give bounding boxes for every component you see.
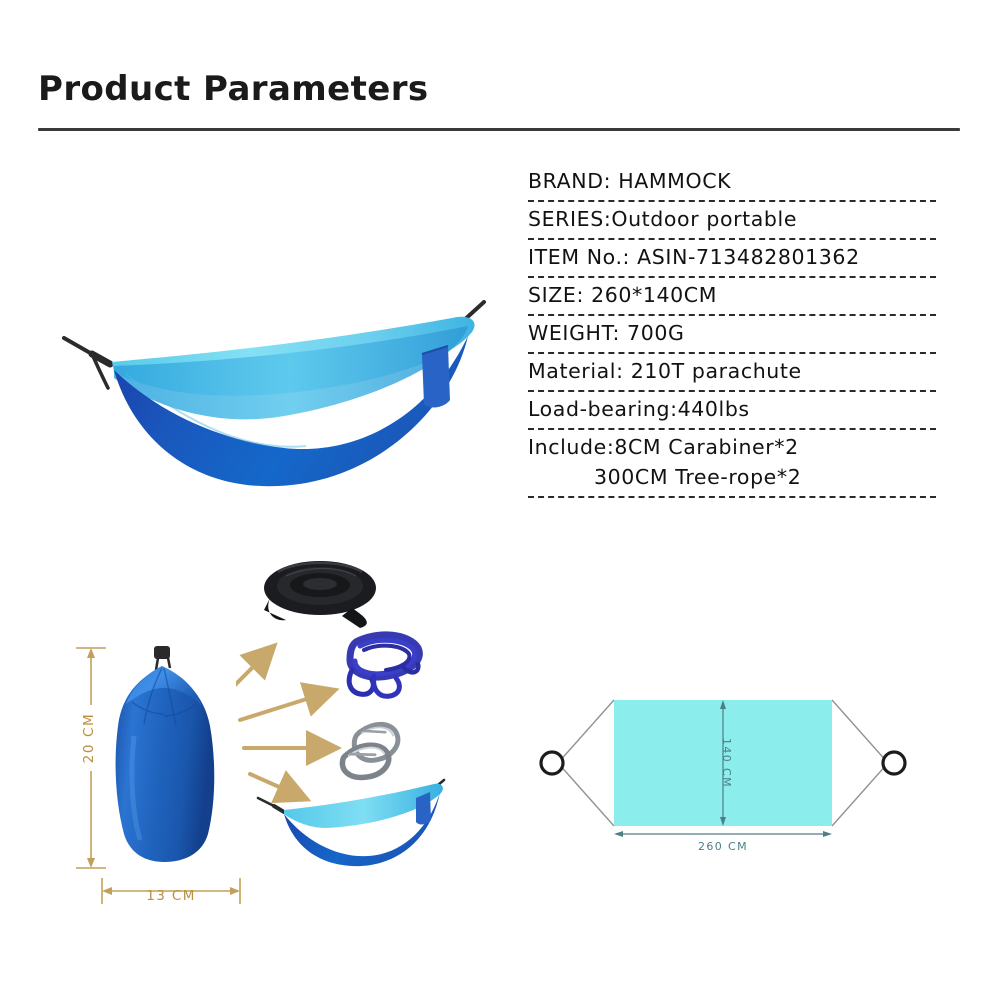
arrow-to-strap	[236, 648, 272, 688]
accessory-tree-strap	[256, 550, 386, 632]
arrow-to-rope	[240, 691, 332, 720]
spec-text-include-1: Include:8CM Carabiner*2	[528, 434, 940, 464]
spec-row-size: SIZE: 260*140CM	[528, 282, 940, 316]
schematic-width-label: 260 CM	[698, 840, 748, 853]
spec-separator	[528, 238, 936, 240]
spec-text-load-bearing: Load-bearing:440lbs	[528, 396, 940, 426]
strap-coil	[264, 561, 376, 628]
accessory-carabiner	[336, 716, 422, 782]
hammock-mid-panel	[114, 326, 468, 419]
spec-separator	[528, 390, 936, 392]
schematic-ring-right	[883, 752, 905, 774]
spec-separator	[528, 428, 936, 430]
hammock-schematic-diagram: 140 CM 260 CM	[528, 668, 918, 858]
carabiner-back	[349, 718, 403, 766]
spec-separator	[528, 314, 936, 316]
accessories-group	[236, 548, 496, 878]
spec-text-brand: BRAND: HAMMOCK	[528, 168, 940, 198]
specification-list: BRAND: HAMMOCK SERIES:Outdoor portable I…	[528, 168, 940, 502]
spec-row-weight: WEIGHT: 700G	[528, 320, 940, 354]
page-title: Product Parameters	[38, 72, 962, 106]
rope-coil	[349, 635, 419, 696]
spec-text-include-2: 300CM Tree-rope*2	[528, 464, 940, 494]
hammock-product-image	[48, 296, 500, 508]
product-parameters-page: Product Parameters	[0, 0, 1000, 1000]
accessory-hammock	[252, 776, 452, 870]
sack-width-label: 13 CM	[98, 888, 244, 904]
schematic-height-label: 140 CM	[720, 738, 733, 788]
spec-text-series: SERIES:Outdoor portable	[528, 206, 940, 236]
spec-text-weight: WEIGHT: 700G	[528, 320, 940, 350]
spec-row-brand: BRAND: HAMMOCK	[528, 168, 940, 202]
sack-height-label: 20 CM	[81, 705, 97, 771]
hammock-side-pocket	[422, 346, 450, 407]
accessory-tree-rope	[338, 628, 430, 708]
spec-separator	[528, 200, 936, 202]
spec-separator	[528, 352, 936, 354]
spec-text-item-no: ITEM No.: ASIN-713482801362	[528, 244, 940, 274]
title-divider	[38, 128, 960, 131]
spec-separator	[528, 276, 936, 278]
title-block: Product Parameters	[38, 72, 962, 106]
spec-separator	[528, 496, 936, 498]
spec-row-material: Material: 210T parachute	[528, 358, 940, 392]
spec-row-item-no: ITEM No.: ASIN-713482801362	[528, 244, 940, 278]
stuff-sack-image	[98, 644, 228, 872]
schematic-ring-left	[541, 752, 563, 774]
spec-text-material: Material: 210T parachute	[528, 358, 940, 388]
spec-text-size: SIZE: 260*140CM	[528, 282, 940, 312]
spec-row-include: Include:8CM Carabiner*2 300CM Tree-rope*…	[528, 434, 940, 498]
spec-row-series: SERIES:Outdoor portable	[528, 206, 940, 240]
spec-row-load-bearing: Load-bearing:440lbs	[528, 396, 940, 430]
